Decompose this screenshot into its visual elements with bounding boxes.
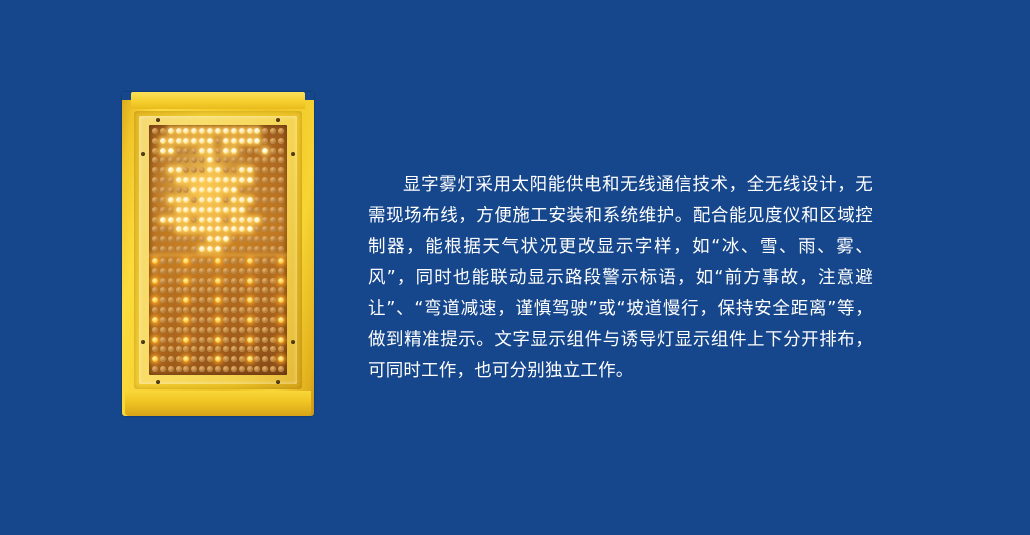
led-dot [215,167,221,173]
led-dot [247,197,253,203]
led-dot [176,278,182,284]
led-dot [223,268,229,274]
led-dot [231,236,237,242]
led-dot [168,278,174,284]
led-dot [183,287,189,293]
led-dot [207,327,213,333]
led-dot [247,327,253,333]
led-dot [191,337,197,343]
led-dot [215,128,221,134]
led-dot [223,128,229,134]
led-dot [270,346,276,352]
led-dot [231,217,237,223]
led-dot [207,268,213,274]
led-dot [247,187,253,193]
led-dot [270,167,276,173]
led-dot [176,128,182,134]
led-dot [254,366,260,372]
led-dot [199,246,205,252]
led-dot [160,197,166,203]
led-dot [183,307,189,313]
led-dot [278,187,284,193]
led-dot [223,346,229,352]
led-dot [160,327,166,333]
led-dot [270,207,276,213]
led-dot [231,366,237,372]
led-dot [254,167,260,173]
led-dot [207,356,213,362]
led-dot [152,366,158,372]
led-dot [270,157,276,163]
led-dot [278,307,284,313]
led-dot [207,128,213,134]
led-dot [215,197,221,203]
led-dot [183,258,189,264]
led-dot [223,246,229,252]
led-dot [207,157,213,163]
led-dot [231,297,237,303]
led-dot [262,167,268,173]
led-dot [191,278,197,284]
led-dot [231,197,237,203]
led-dot [160,177,166,183]
led-dot [231,246,237,252]
led-dot [278,346,284,352]
led-dot [168,258,174,264]
led-grid-guide-section [149,255,287,375]
led-dot [207,197,213,203]
led-dot [278,278,284,284]
led-dot [278,157,284,163]
led-dot [215,217,221,223]
led-dot [223,278,229,284]
led-dot [207,258,213,264]
led-dot [160,207,166,213]
led-dot [152,226,158,232]
led-dot [215,317,221,323]
led-dot [254,217,260,223]
led-dot [183,177,189,183]
led-dot [278,128,284,134]
led-dot [270,246,276,252]
led-dot [247,207,253,213]
led-dot [270,278,276,284]
led-dot [176,138,182,144]
led-dot [160,217,166,223]
led-dot [152,287,158,293]
led-dot [199,258,205,264]
led-dot [191,287,197,293]
led-dot [262,138,268,144]
led-dot [160,268,166,274]
led-dot [262,317,268,323]
led-dot [168,366,174,372]
led-dot [254,317,260,323]
led-dot [262,327,268,333]
led-dot [270,138,276,144]
led-dot [270,148,276,154]
led-dot [270,327,276,333]
led-dot [183,207,189,213]
led-dot [239,217,245,223]
led-dot [262,287,268,293]
led-dot [168,226,174,232]
led-dot [191,258,197,264]
led-dot [247,337,253,343]
led-dot [207,187,213,193]
led-dot [278,167,284,173]
led-dot [247,366,253,372]
led-dot [254,287,260,293]
led-dot [176,226,182,232]
led-dot [223,207,229,213]
led-dot [262,217,268,223]
led-dot [160,246,166,252]
led-dot [160,258,166,264]
led-dot [191,356,197,362]
led-dot [247,346,253,352]
led-dot [152,356,158,362]
led-dot [247,128,253,134]
led-dot [176,317,182,323]
led-dot [254,177,260,183]
led-dot [168,187,174,193]
led-dot [207,337,213,343]
led-dot [247,217,253,223]
led-dot [254,246,260,252]
led-dot [152,327,158,333]
led-dot [207,148,213,154]
led-dot [152,297,158,303]
led-dot [152,167,158,173]
led-dot [247,356,253,362]
product-description-text: 显字雾灯采用太阳能供电和无线通信技术，全无线设计，无需现场布线，方便施工安装和系… [368,170,873,387]
led-dot [191,268,197,274]
led-dot [223,197,229,203]
led-dot [262,226,268,232]
led-dot [239,278,245,284]
housing-top-cap [131,92,305,109]
led-dot [215,258,221,264]
led-dot [207,217,213,223]
led-dot [152,278,158,284]
led-dot [199,157,205,163]
led-dot [223,327,229,333]
led-dot [168,337,174,343]
led-dot [254,157,260,163]
led-dot [191,207,197,213]
led-dot [223,217,229,223]
led-dot [168,207,174,213]
led-dot [270,268,276,274]
led-dot [231,307,237,313]
led-dot [183,337,189,343]
led-dot [262,258,268,264]
led-dot [247,307,253,313]
led-dot [223,356,229,362]
led-dot [278,148,284,154]
led-dot [160,187,166,193]
led-dot [254,356,260,362]
led-dot [215,297,221,303]
led-dot [247,246,253,252]
led-dot [223,177,229,183]
led-dot [270,317,276,323]
led-dot [176,197,182,203]
led-dot [239,197,245,203]
led-dot [199,226,205,232]
led-dot [231,356,237,362]
led-dot [278,356,284,362]
led-dot [199,346,205,352]
led-dot [247,287,253,293]
led-dot [231,128,237,134]
led-dot [239,258,245,264]
led-dot [199,217,205,223]
led-dot [152,148,158,154]
led-dot [215,236,221,242]
led-dot [207,138,213,144]
screw-icon [291,152,295,156]
led-dot [262,187,268,193]
led-dot [247,148,253,154]
led-dot [191,128,197,134]
led-dot [231,138,237,144]
led-dot [262,157,268,163]
led-dot [176,346,182,352]
led-dot [152,317,158,323]
led-dot [183,226,189,232]
led-dot [223,157,229,163]
led-dot [239,138,245,144]
led-dot [183,356,189,362]
led-dot [183,278,189,284]
screw-icon [291,340,295,344]
led-dot [160,297,166,303]
led-dot [247,177,253,183]
led-dot [215,307,221,313]
led-dot [199,197,205,203]
led-dot [176,307,182,313]
led-dot [278,138,284,144]
led-dot [191,226,197,232]
led-dot [215,287,221,293]
led-dot [262,356,268,362]
led-dot [223,337,229,343]
led-dot [239,246,245,252]
led-dot [270,287,276,293]
led-dot [199,268,205,274]
led-dot [152,268,158,274]
led-dot [270,366,276,372]
led-dot [191,167,197,173]
led-dot [270,177,276,183]
led-dot [199,278,205,284]
led-dot [160,236,166,242]
led-dot [270,217,276,223]
led-dot [239,337,245,343]
led-dot [168,217,174,223]
led-dot [231,317,237,323]
led-dot [215,278,221,284]
led-dot [239,307,245,313]
led-dot [223,226,229,232]
led-dot [262,268,268,274]
led-dot [191,317,197,323]
led-dot [152,337,158,343]
led-dot [239,236,245,242]
led-dot [183,346,189,352]
led-dot [168,167,174,173]
led-dot [168,317,174,323]
led-dot [270,307,276,313]
led-dot [239,317,245,323]
led-dot [168,236,174,242]
led-dot [223,187,229,193]
led-dot [191,246,197,252]
led-dot [239,356,245,362]
led-dot [215,366,221,372]
screw-icon [156,118,160,122]
led-dot [223,148,229,154]
led-dot [152,187,158,193]
led-dot [223,307,229,313]
led-dot [254,197,260,203]
led-dot [199,366,205,372]
led-dot [207,346,213,352]
led-dot [223,138,229,144]
led-dot [152,217,158,223]
led-dot [247,268,253,274]
screw-icon [276,380,280,384]
led-dot [191,138,197,144]
led-dot [254,268,260,274]
led-dot [278,337,284,343]
led-dot [278,226,284,232]
led-dot [215,148,221,154]
led-dot [278,268,284,274]
led-dot [262,346,268,352]
led-dot [254,128,260,134]
led-dot [278,236,284,242]
led-grid-text-section [149,125,287,255]
led-dot [176,258,182,264]
led-dot [239,297,245,303]
led-dot [223,366,229,372]
led-dot [262,337,268,343]
led-dot [254,148,260,154]
led-dot [199,297,205,303]
led-dot [191,217,197,223]
led-dot [191,177,197,183]
led-dot [191,307,197,313]
led-dot [176,287,182,293]
led-dot [207,366,213,372]
led-dot [160,128,166,134]
led-dot [278,246,284,252]
led-dot [254,258,260,264]
led-dot [254,327,260,333]
led-dot [183,217,189,223]
led-dot [247,226,253,232]
led-dot [199,177,205,183]
led-dot [278,177,284,183]
led-dot [199,128,205,134]
led-dot [215,346,221,352]
product-image-led-fog-lamp [122,92,314,416]
led-display-board [149,125,287,375]
led-dot [270,187,276,193]
housing-notch-top-right [304,92,314,100]
led-dot [160,356,166,362]
led-dot [160,307,166,313]
led-dot [278,217,284,223]
led-dot [207,207,213,213]
screw-icon [156,380,160,384]
led-dot [215,327,221,333]
led-dot [262,207,268,213]
led-dot [160,226,166,232]
led-dot [152,138,158,144]
led-dot [207,287,213,293]
led-dot [231,346,237,352]
led-dot [239,167,245,173]
led-dot [168,287,174,293]
led-dot [262,297,268,303]
led-dot [215,356,221,362]
led-dot [239,346,245,352]
led-dot [231,268,237,274]
led-dot [215,268,221,274]
led-dot [231,177,237,183]
led-dot [278,317,284,323]
led-dot [231,148,237,154]
led-dot [207,177,213,183]
led-dot [183,167,189,173]
led-dot [152,197,158,203]
led-dot [270,258,276,264]
led-dot [199,356,205,362]
led-dot [231,337,237,343]
led-dot [152,307,158,313]
led-dot [168,128,174,134]
led-dot [160,317,166,323]
led-dot [183,236,189,242]
led-dot [191,297,197,303]
led-dot [254,297,260,303]
led-dot [239,268,245,274]
led-dot [239,327,245,333]
led-dot [152,236,158,242]
led-dot [191,366,197,372]
led-dot [160,148,166,154]
led-dot [278,287,284,293]
led-dot [168,148,174,154]
led-dot [254,226,260,232]
led-dot [207,297,213,303]
led-dot [152,207,158,213]
led-dot [262,148,268,154]
led-dot [176,268,182,274]
led-dot [199,317,205,323]
page-root: 显字雾灯采用太阳能供电和无线通信技术，全无线设计，无需现场布线，方便施工安装和系… [0,0,1030,535]
led-dot [270,297,276,303]
led-dot [176,337,182,343]
led-dot [247,138,253,144]
led-dot [254,337,260,343]
led-dot [176,167,182,173]
led-dot [152,128,158,134]
